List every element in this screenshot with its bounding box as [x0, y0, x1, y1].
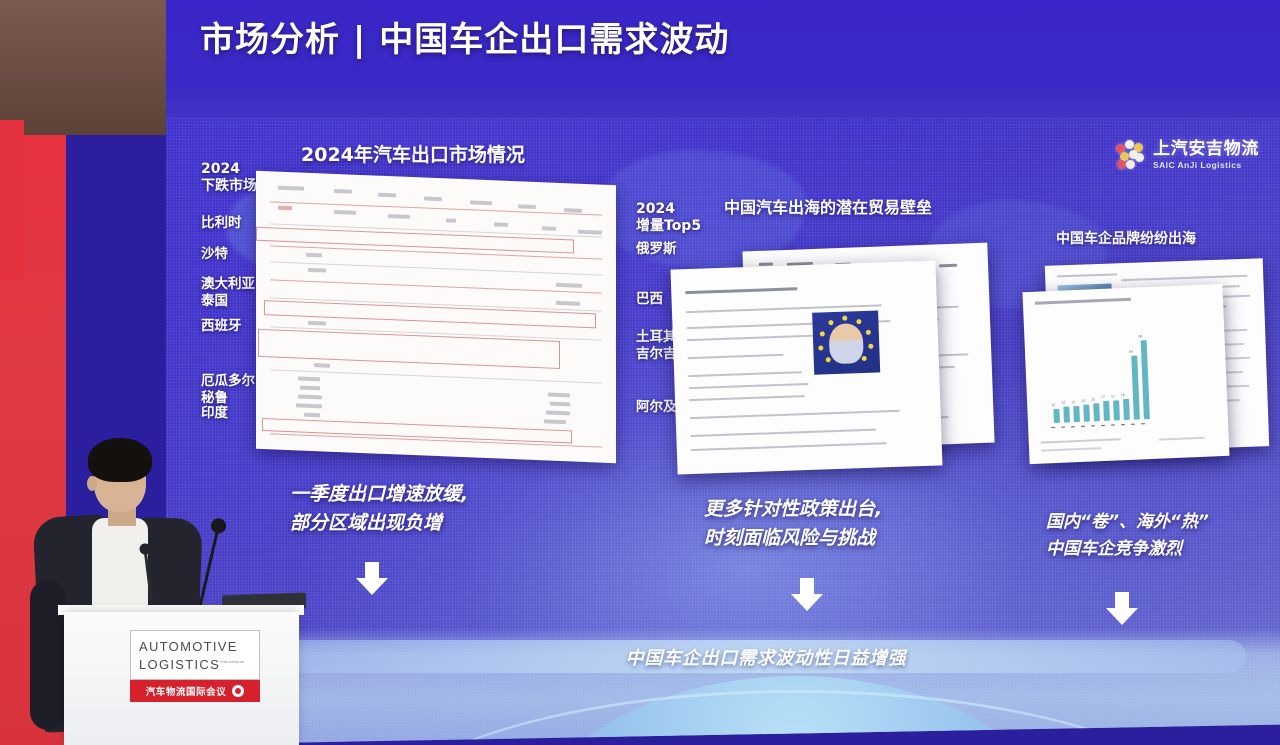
callout-1-line-2: 部分区域出现负增 [290, 509, 442, 538]
bar-value-5: 17 [1101, 395, 1105, 399]
podium-logo-red-band: 汽车物流国际会议 [130, 680, 260, 702]
left-group-title-text: 下跌市场 [201, 177, 257, 197]
right-item-1: 巴西 [636, 290, 663, 309]
bar-2 [1073, 406, 1080, 422]
bar-7 [1123, 398, 1130, 420]
bar-category-3: ▬ [1081, 424, 1085, 428]
podium-logo-line2: LOGISTICS [139, 657, 220, 672]
left-item-3: 泰国 [201, 292, 228, 311]
callout-2-line-2: 时刻面临风险与挑战 [704, 524, 875, 553]
bar-value-3: 14 [1081, 399, 1085, 403]
export-market-table [256, 171, 616, 463]
bar-category-9: ▬ [1141, 421, 1145, 425]
bar-value-2: 13 [1071, 401, 1075, 405]
slide-title: 市场分析 | 中国车企出口需求波动 [200, 12, 729, 61]
bar-value-8: 54 [1129, 349, 1133, 353]
left-item-4: 西班牙 [201, 317, 242, 336]
bar-category-7: ▬ [1121, 422, 1125, 426]
bar-1 [1063, 407, 1070, 423]
podium-logo-line1: AUTOMOTIVE [139, 638, 253, 656]
red-wall-upper [0, 120, 24, 280]
bar-3 [1083, 405, 1090, 422]
callout-3-line-1: 国内“卷”、海外“热” [1046, 510, 1209, 536]
panel-title-trade-barriers: 中国汽车出海的潜在贸易壁垒 [724, 194, 932, 218]
bar-value-9: 66 [1138, 334, 1142, 338]
right-group-title-text: 增量Top5 [636, 217, 701, 237]
seal-icon [232, 685, 244, 697]
brand-name-en: SAIC AnJi Logistics [1153, 161, 1259, 170]
bar-value-7: 18 [1121, 393, 1125, 397]
conclusion-band: 中国车企出口需求波动性日益增强 [286, 640, 1246, 673]
bar-0 [1053, 408, 1060, 423]
bar-category-1: ▬ [1061, 425, 1065, 429]
eu-official-photo [812, 310, 880, 374]
bar-9 [1141, 340, 1150, 419]
saic-anji-logo: 上汽安吉物流 SAIC AnJi Logistics [1116, 140, 1259, 170]
panel-title-export-market: 2024年汽车出口市场情况 [301, 140, 525, 167]
callout-2-line-1: 更多针对性政策出台, [704, 495, 882, 524]
podium-logo: AUTOMOTIVE LOGISTICSInternational 汽车物流国际… [130, 630, 260, 702]
presentation-screen: 市场分析 | 中国车企出口需求波动 上汽安吉物流 SAIC AnJi Logis… [166, 0, 1280, 745]
conference-photo: ve Logistics International Conference 车国… [0, 0, 1280, 745]
bar-category-6: ▬ [1111, 423, 1115, 427]
bar-6 [1113, 400, 1120, 421]
callout-1-line-1: 一季度出口增速放缓, [290, 480, 468, 509]
bar-4 [1093, 403, 1100, 421]
left-item-7: 印度 [201, 404, 228, 423]
news-clipping-front [671, 260, 943, 474]
brand-chart-card: 12▬13▬13▬14▬15▬17▬17▬18▬54▬66▬ [1022, 284, 1229, 464]
left-item-1: 沙特 [201, 245, 228, 264]
conclusion-text: 中国车企出口需求波动性日益增强 [286, 640, 1246, 673]
bar-5 [1103, 400, 1110, 421]
bar-value-6: 17 [1111, 394, 1115, 398]
bar-chart: 12▬13▬13▬14▬15▬17▬17▬18▬54▬66▬ [1044, 328, 1213, 423]
bar-category-5: ▬ [1101, 423, 1105, 427]
podium-logo-superscript: International [220, 659, 244, 664]
bar-category-4: ▬ [1091, 423, 1095, 427]
bar-value-4: 15 [1091, 397, 1095, 401]
podium-logo-cn: 汽车物流国际会议 [146, 684, 227, 698]
left-item-0: 比利时 [201, 214, 242, 233]
bar-category-2: ▬ [1071, 424, 1075, 428]
right-item-0: 俄罗斯 [636, 240, 677, 259]
bar-value-1: 13 [1061, 401, 1065, 405]
bar-category-8: ▬ [1131, 422, 1135, 426]
bar-value-0: 12 [1051, 403, 1055, 407]
brand-name-cn: 上汽安吉物流 [1153, 141, 1259, 158]
bar-8 [1131, 355, 1140, 420]
bar-category-0: ▬ [1051, 425, 1055, 429]
hex-dots-icon [1116, 140, 1146, 170]
callout-3-line-2: 中国车企竞争激烈 [1046, 537, 1182, 563]
panel-title-brands: 中国车企品牌纷纷出海 [1056, 228, 1196, 248]
